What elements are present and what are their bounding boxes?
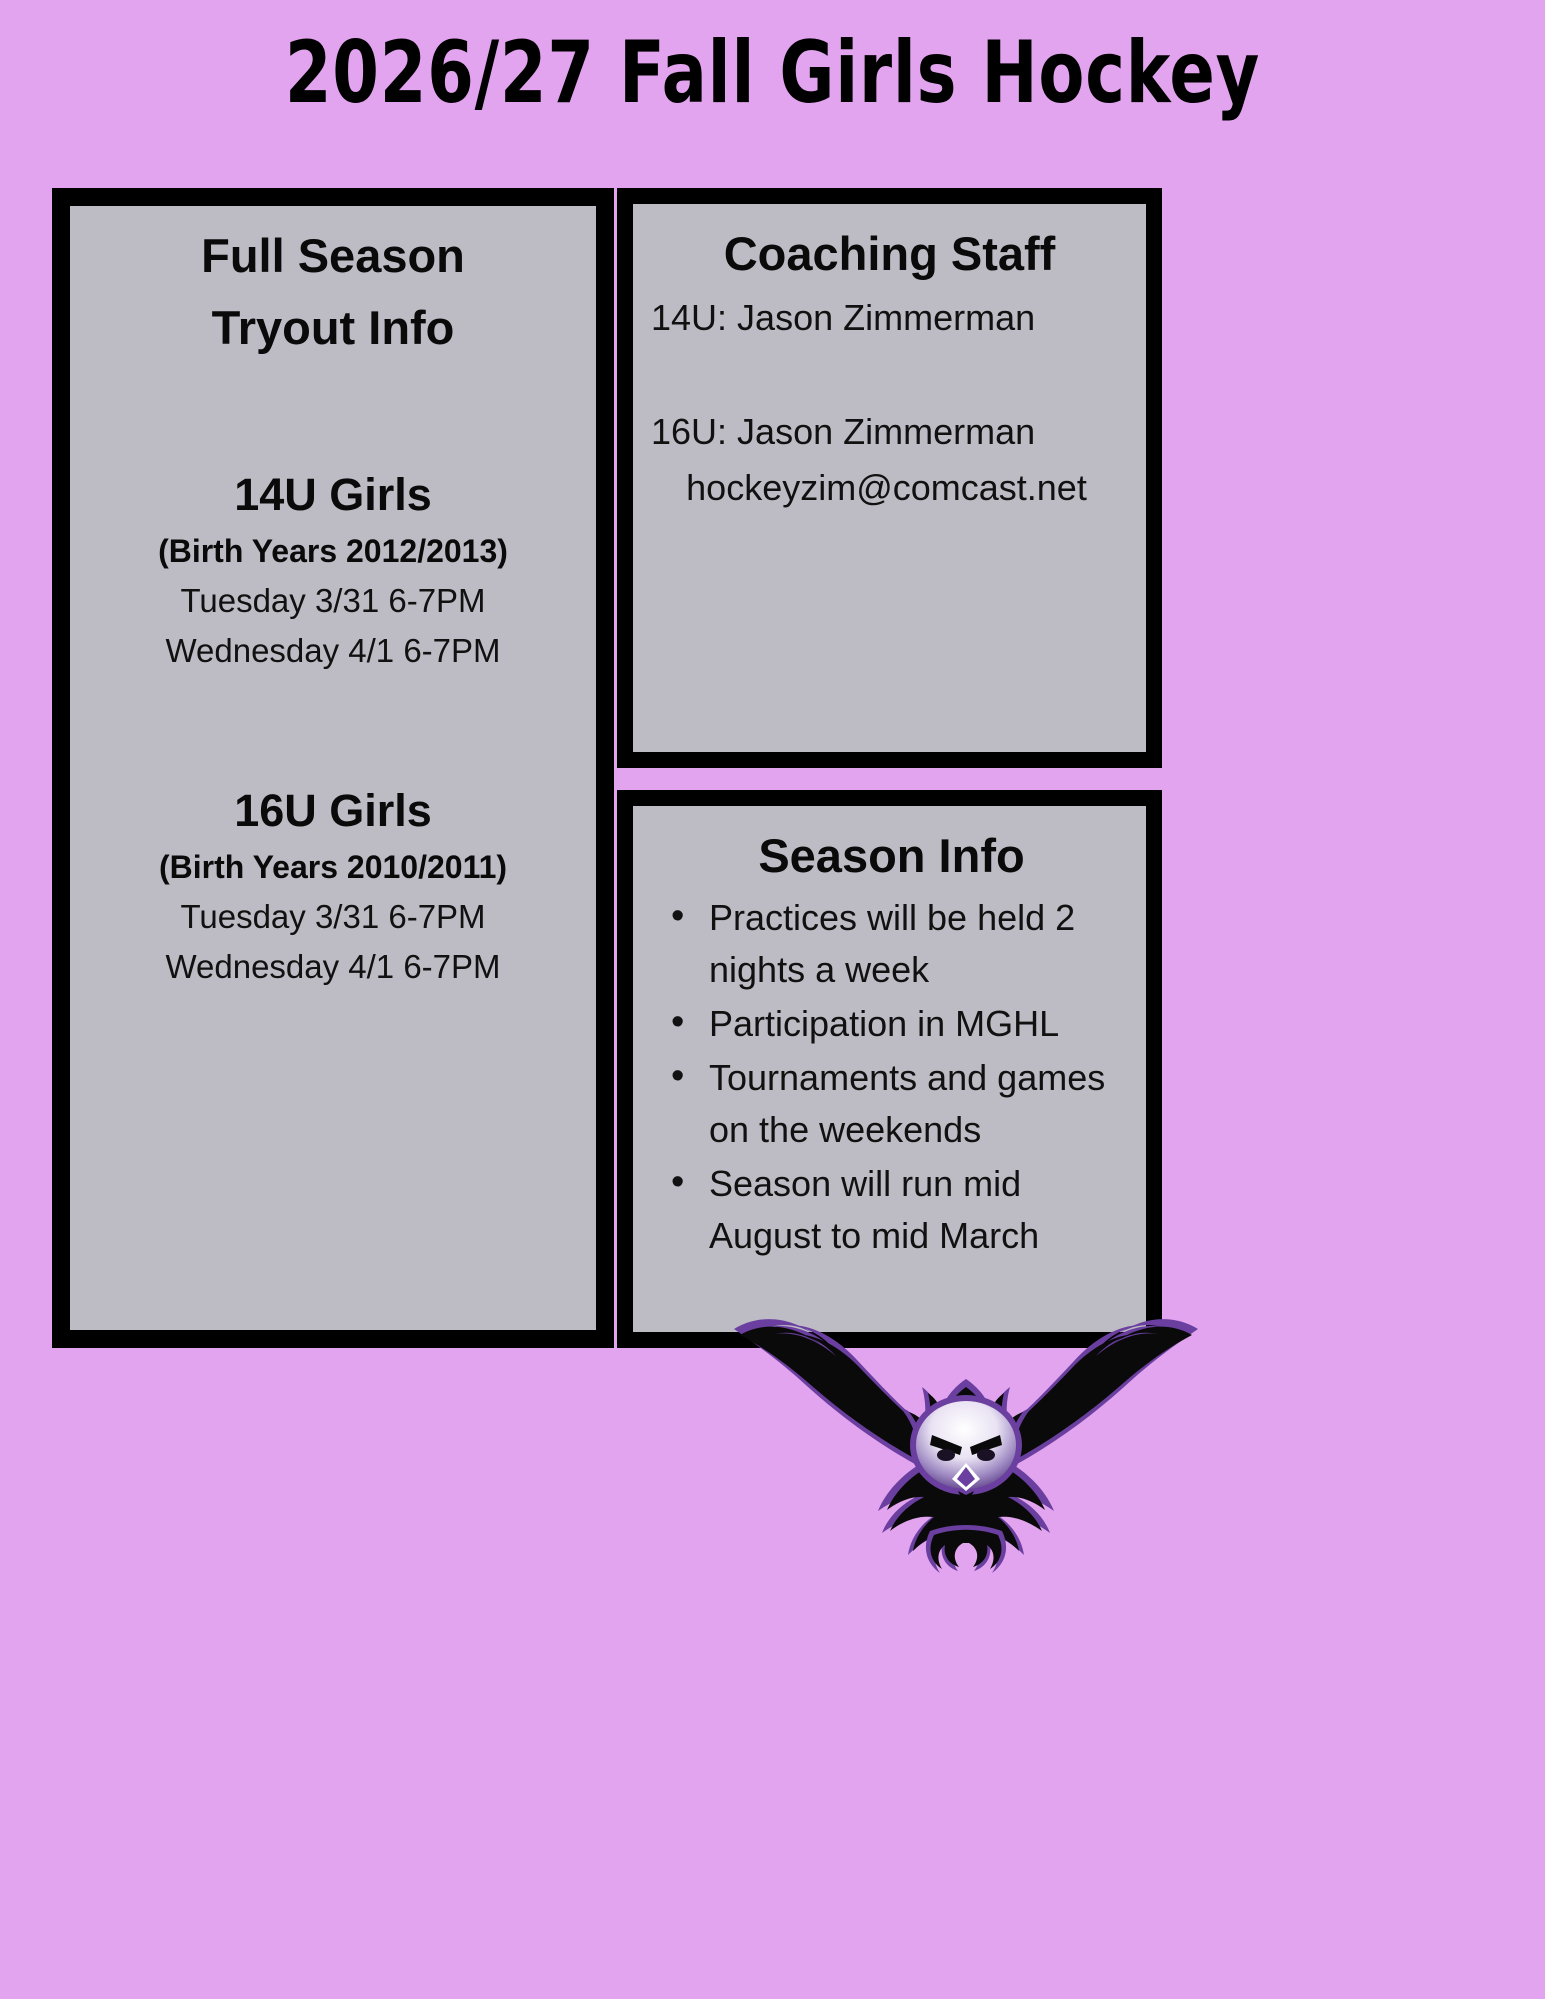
list-item: Participation in MGHL (705, 998, 1132, 1050)
season-bullet-list: Practices will be held 2 nights a week P… (651, 892, 1132, 1262)
list-item: Season will run mid August to mid March (705, 1158, 1132, 1262)
list-item: Tournaments and games on the weekends (705, 1052, 1132, 1156)
season-info-panel-body: Season Info Practices will be held 2 nig… (633, 806, 1146, 1332)
tryout-group-16u: 16U Girls (Birth Years 2010/2011) Tuesda… (90, 780, 576, 992)
coach-14u: 14U: Jason Zimmerman (651, 290, 1128, 346)
tryout-info-panel: Full Season Tryout Info 14U Girls (Birth… (52, 188, 614, 1348)
eagle-body (878, 1456, 1054, 1556)
coaching-heading: Coaching Staff (651, 218, 1128, 290)
page-title: 2026/27 Fall Girls Hockey (170, 18, 1375, 128)
tryout-group-14u: 14U Girls (Birth Years 2012/2013) Tuesda… (90, 464, 576, 676)
tryout-info-panel-body: Full Season Tryout Info 14U Girls (Birth… (70, 206, 596, 1330)
group-16u-session-1: Tuesday 3/31 6-7PM (90, 892, 576, 942)
group-16u-title: 16U Girls (90, 780, 576, 842)
coach-gap (651, 346, 1128, 404)
group-14u-title: 14U Girls (90, 464, 576, 526)
eagle-crest (900, 1379, 1032, 1447)
eagle-head (910, 1395, 1022, 1499)
coaching-staff-panel: Coaching Staff 14U: Jason Zimmerman 16U:… (617, 188, 1162, 768)
tryout-spacer-top (90, 364, 576, 464)
coaching-staff-panel-body: Coaching Staff 14U: Jason Zimmerman 16U:… (633, 204, 1146, 752)
tryout-spacer-mid (90, 676, 576, 780)
group-14u-session-1: Tuesday 3/31 6-7PM (90, 576, 576, 626)
season-heading: Season Info (651, 820, 1132, 892)
season-info-panel: Season Info Practices will be held 2 nig… (617, 790, 1162, 1348)
group-14u-birth-years: (Birth Years 2012/2013) (90, 526, 576, 576)
group-16u-session-2: Wednesday 4/1 6-7PM (90, 942, 576, 992)
tryout-heading-line-2: Tryout Info (90, 292, 576, 364)
tryout-heading-line-1: Full Season (90, 220, 576, 292)
coach-email[interactable]: hockeyzim@comcast.net (651, 460, 1128, 516)
group-14u-session-2: Wednesday 4/1 6-7PM (90, 626, 576, 676)
coach-16u: 16U: Jason Zimmerman (651, 404, 1128, 460)
eagle-talons (926, 1525, 1006, 1573)
group-16u-birth-years: (Birth Years 2010/2011) (90, 842, 576, 892)
list-item: Practices will be held 2 nights a week (705, 892, 1132, 996)
